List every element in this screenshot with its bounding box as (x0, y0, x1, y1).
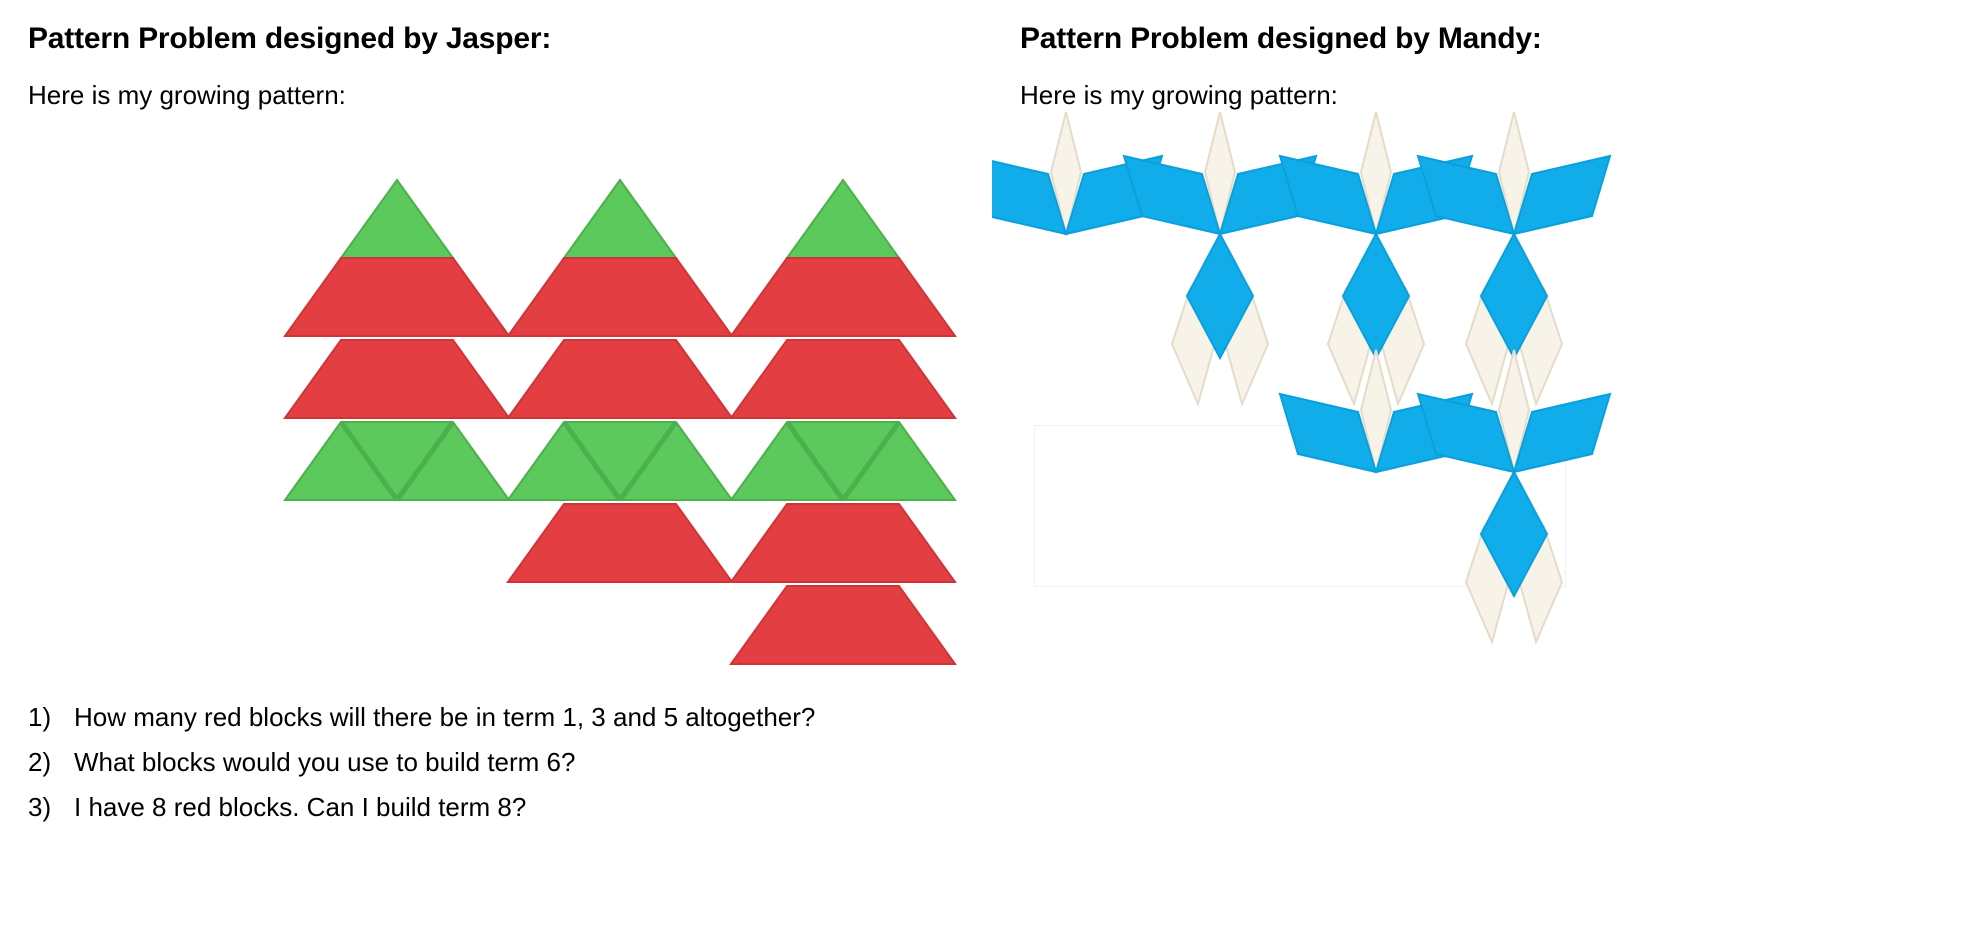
green-triangle (564, 180, 676, 258)
green-trapezoid-seam (564, 422, 620, 500)
green-trapezoid-seam (843, 422, 899, 500)
mandy-term-4 (1418, 112, 1610, 404)
red-trapezoid (508, 340, 732, 418)
diamond-unit-small (992, 112, 1162, 234)
red-trapezoid (731, 340, 955, 418)
panel-jasper: Pattern Problem designed by Jasper: Here… (0, 0, 992, 932)
list-item: 2) What blocks would you use to build te… (28, 740, 815, 785)
diamond-unit-full (1418, 112, 1610, 404)
green-trapezoid (731, 422, 955, 500)
red-trapezoid (731, 504, 955, 582)
question-text: How many red blocks will there be in ter… (74, 695, 815, 740)
red-trapezoid (285, 258, 509, 336)
page-title-jasper: Pattern Problem designed by Jasper: (28, 22, 551, 56)
green-trapezoid-seam (787, 422, 843, 500)
green-trapezoid-seam (397, 422, 453, 500)
red-trapezoid (731, 258, 955, 336)
question-text: I have 8 red blocks. Can I build term 8? (74, 785, 526, 830)
question-text: What blocks would you use to build term … (74, 740, 575, 785)
question-list-jasper: 1) How many red blocks will there be in … (28, 695, 815, 830)
mandy-term-1 (992, 112, 1162, 234)
list-item: 3) I have 8 red blocks. Can I build term… (28, 785, 815, 830)
lede-jasper: Here is my growing pattern: (28, 80, 346, 111)
red-trapezoid (285, 340, 509, 418)
jasper-term-3 (731, 180, 955, 664)
mandy-term-2 (1124, 112, 1316, 404)
question-number: 3) (28, 785, 74, 830)
figure-background-box (1034, 425, 1566, 587)
panel-mandy: Pattern Problem designed by Mandy: Here … (992, 0, 1984, 932)
page-title-mandy: Pattern Problem designed by Mandy: (1020, 22, 1542, 56)
diamond-unit-full (1280, 112, 1472, 404)
red-trapezoid (731, 586, 955, 664)
diamond-unit-full (1124, 112, 1316, 404)
red-trapezoid (508, 258, 732, 336)
mandy-term-3 (1280, 112, 1472, 404)
red-trapezoid (508, 504, 732, 582)
green-trapezoid-seam (341, 422, 397, 500)
green-trapezoid (508, 422, 732, 500)
list-item: 1) How many red blocks will there be in … (28, 695, 815, 740)
jasper-term-1 (285, 180, 509, 500)
question-number: 1) (28, 695, 74, 740)
green-trapezoid (285, 422, 509, 500)
green-triangle (341, 180, 453, 258)
page-root: Pattern Problem designed by Jasper: Here… (0, 0, 1984, 932)
jasper-term-2 (508, 180, 732, 582)
green-trapezoid-seam (620, 422, 676, 500)
lede-mandy: Here is my growing pattern: (1020, 80, 1338, 111)
question-number: 2) (28, 740, 74, 785)
green-triangle (787, 180, 899, 258)
